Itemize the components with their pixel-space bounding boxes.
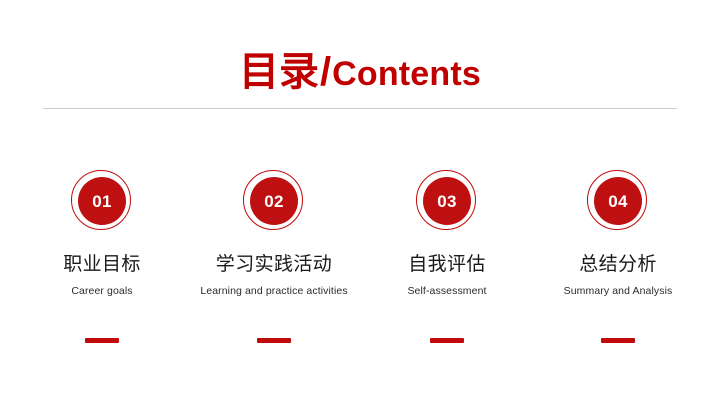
badge-number-03: 03 <box>437 193 457 210</box>
page-title-english: Contents <box>332 55 481 93</box>
number-badge-02: 02 <box>243 170 305 232</box>
badge-number-04: 04 <box>608 193 628 210</box>
badge-inner-circle-icon: 03 <box>423 177 471 225</box>
contents-item-02[interactable]: 02 学习实践活动 Learning and practice activiti… <box>188 170 360 299</box>
page-title-chinese: 目录 <box>239 50 319 94</box>
contents-item-03[interactable]: 03 自我评估 Self-assessment <box>361 170 533 299</box>
number-badge-04: 04 <box>587 170 649 232</box>
contents-item-04[interactable]: 04 总结分析 Summary and Analysis <box>532 170 704 299</box>
contents-item-01[interactable]: 01 职业目标 Career goals <box>16 170 188 299</box>
badge-number-01: 01 <box>92 193 112 210</box>
page-title-separator: / <box>320 50 331 94</box>
title-divider <box>43 108 677 109</box>
item-label-chinese-01: 职业目标 <box>16 254 188 276</box>
item-label-chinese-02: 学习实践活动 <box>188 254 360 276</box>
badge-inner-circle-icon: 04 <box>594 177 642 225</box>
item-label-english-04: Summary and Analysis <box>532 283 704 299</box>
item-label-english-03: Self-assessment <box>361 283 533 299</box>
item-label-chinese-03: 自我评估 <box>361 254 533 276</box>
item-underline-dash-02 <box>257 338 291 343</box>
badge-number-02: 02 <box>264 193 284 210</box>
contents-item-list: 01 职业目标 Career goals 02 学习实践活动 Learning … <box>0 170 720 370</box>
badge-inner-circle-icon: 01 <box>78 177 126 225</box>
item-label-english-02: Learning and practice activities <box>188 283 360 299</box>
number-badge-01: 01 <box>71 170 133 232</box>
number-badge-03: 03 <box>416 170 478 232</box>
item-underline-dash-01 <box>85 338 119 343</box>
badge-inner-circle-icon: 02 <box>250 177 298 225</box>
contents-slide: 目录/Contents 01 职业目标 Career goals 02 学习实践… <box>0 0 720 405</box>
page-title: 目录/Contents <box>0 52 720 92</box>
item-label-english-01: Career goals <box>16 283 188 299</box>
item-underline-dash-04 <box>601 338 635 343</box>
item-underline-dash-03 <box>430 338 464 343</box>
item-label-chinese-04: 总结分析 <box>532 254 704 276</box>
